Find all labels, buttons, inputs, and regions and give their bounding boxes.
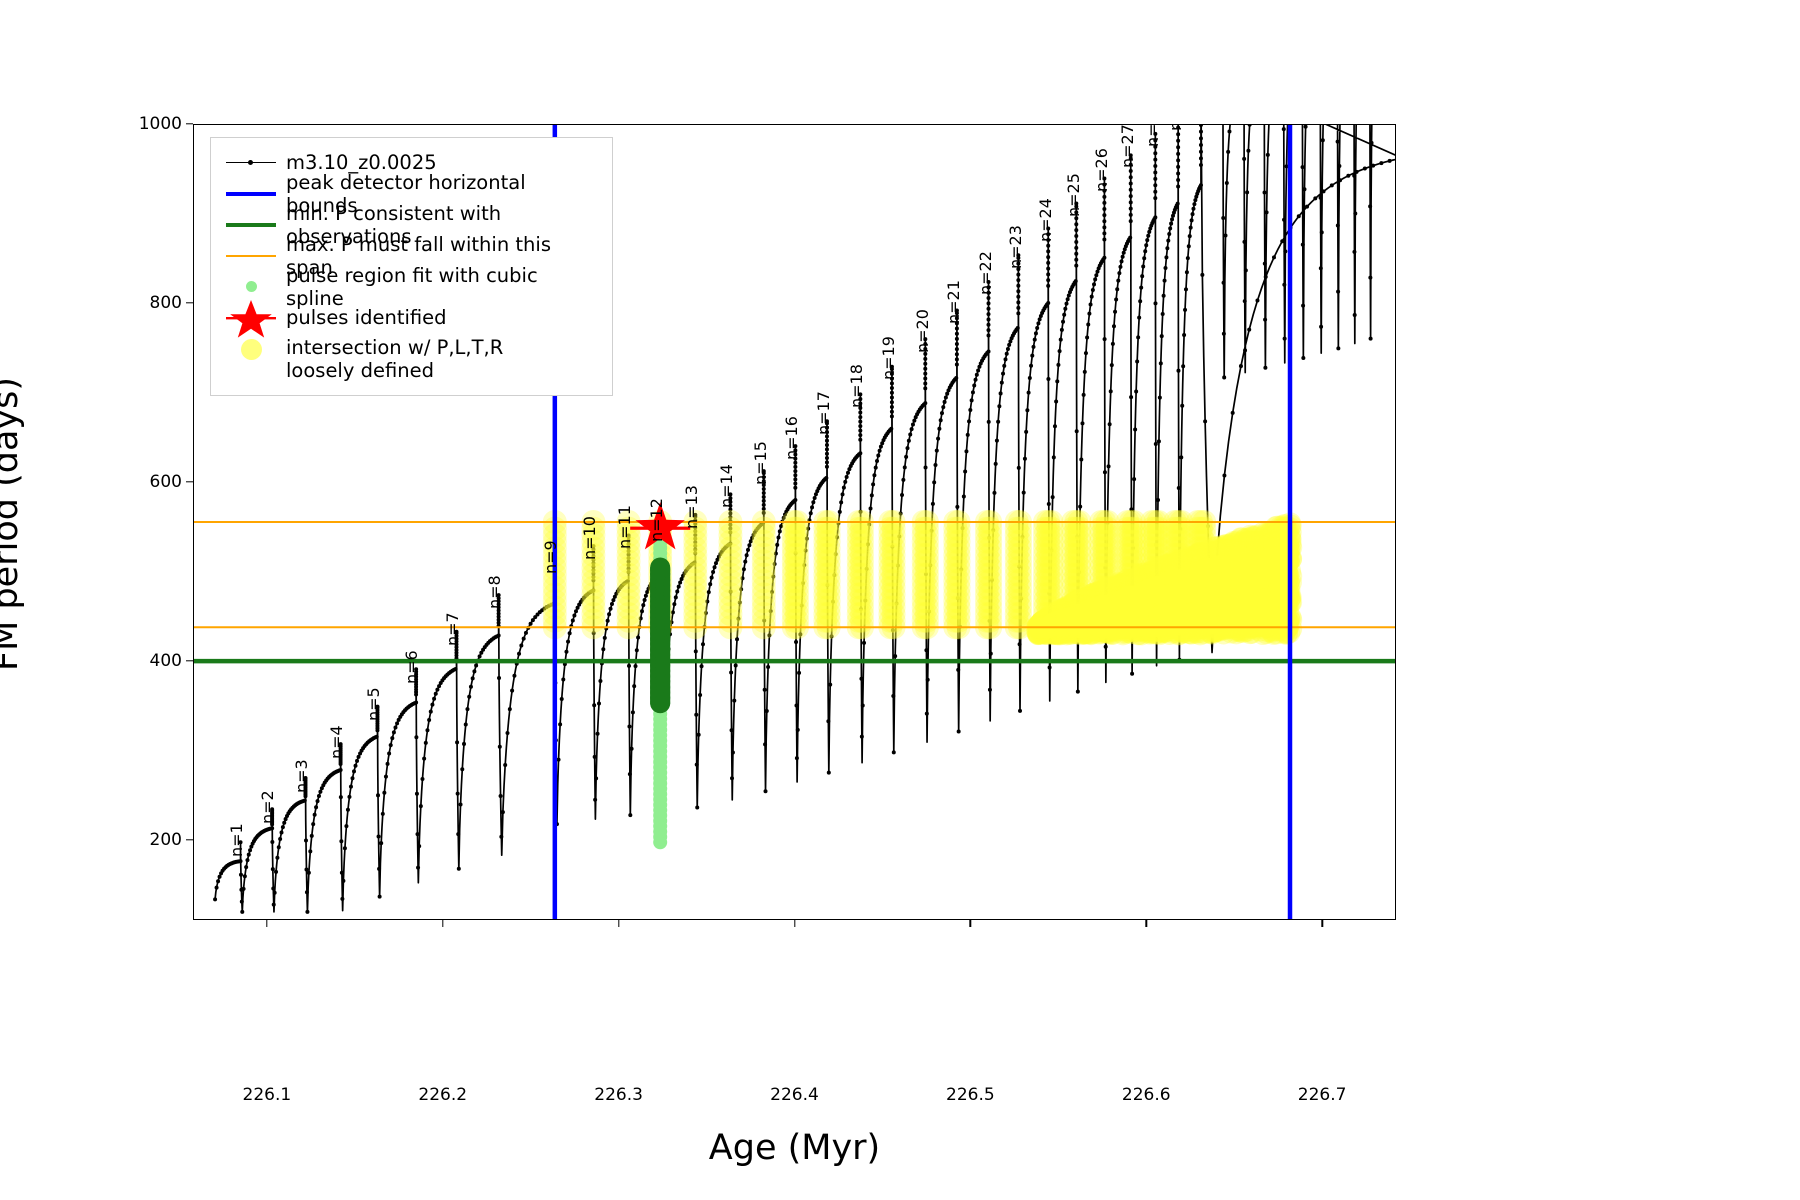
x-tick-label: 226.5 bbox=[946, 1085, 995, 1105]
x-axis-label: Age (Myr) bbox=[193, 1128, 1396, 1168]
pulse-label-n2: n=2 bbox=[258, 790, 277, 824]
pulse-label-n14: n=14 bbox=[717, 464, 736, 508]
x-tick-mark bbox=[970, 920, 971, 927]
y-tick-mark bbox=[186, 660, 193, 661]
pulse-label-n6: n=6 bbox=[402, 650, 421, 684]
x-tick-label: 226.2 bbox=[418, 1085, 467, 1105]
pulse-label-n11: n=11 bbox=[615, 506, 634, 550]
pulse-label-n23: n=23 bbox=[1006, 225, 1025, 269]
y-tick-label: 1000 bbox=[139, 114, 182, 134]
y-tick-label: 200 bbox=[150, 830, 182, 850]
pulse-label-n22: n=22 bbox=[976, 252, 995, 296]
pulse-label-n28: n=28 bbox=[1143, 125, 1162, 147]
legend-label-pulses-identified: pulses identified bbox=[280, 306, 447, 329]
pulse-label-n13: n=13 bbox=[682, 485, 701, 529]
pulse-label-n12: n=12 bbox=[647, 498, 666, 542]
pulse-label-n9: n=9 bbox=[541, 540, 560, 574]
x-tick-label: 226.3 bbox=[594, 1085, 643, 1105]
legend-label-intersection-line-1: loosely defined bbox=[286, 359, 503, 382]
x-tick-label: 226.4 bbox=[770, 1085, 819, 1105]
legend-label-intersection: intersection w/ P,L,T,Rloosely defined bbox=[280, 336, 503, 382]
legend: m3.10_z0.0025 peak detector horizontal b… bbox=[210, 137, 613, 396]
x-tick-mark bbox=[794, 920, 795, 927]
cubic-spline-pulse-region bbox=[650, 530, 670, 849]
pulse-label-n1: n=1 bbox=[227, 823, 246, 857]
pulse-label-n5: n=5 bbox=[364, 687, 383, 721]
pulse-label-n29: n=29 bbox=[1166, 125, 1185, 131]
pulse-label-n20: n=20 bbox=[913, 309, 932, 353]
y-tick-mark bbox=[186, 123, 193, 124]
dot-yellow-icon bbox=[222, 336, 280, 362]
y-tick-mark bbox=[186, 302, 193, 303]
pulse-label-n8: n=8 bbox=[485, 576, 504, 610]
x-tick-mark bbox=[442, 920, 443, 927]
line-orange-icon bbox=[222, 243, 280, 269]
pulse-label-n15: n=15 bbox=[751, 441, 770, 485]
plot-area: n=1n=2n=3n=4n=5n=6n=7n=8n=9n=10n=11n=12n… bbox=[193, 124, 1396, 920]
legend-item-intersection: intersection w/ P,L,T,Rloosely defined bbox=[222, 333, 599, 386]
x-tick-mark bbox=[618, 920, 619, 927]
line-black-marker-icon bbox=[222, 150, 280, 176]
y-tick-label: 400 bbox=[150, 651, 182, 671]
pulse-label-n25: n=25 bbox=[1064, 173, 1083, 217]
pulse-label-n7: n=7 bbox=[443, 612, 462, 646]
line-green-icon bbox=[222, 212, 280, 238]
y-axis-label: FM period (days) bbox=[0, 377, 26, 671]
pulse-label-n10: n=10 bbox=[580, 516, 599, 560]
x-tick-mark bbox=[266, 920, 267, 927]
y-tick-label: 800 bbox=[150, 293, 182, 313]
pulse-label-n26: n=26 bbox=[1092, 148, 1111, 192]
x-tick-label: 226.1 bbox=[243, 1085, 292, 1105]
pulse-label-n16: n=16 bbox=[782, 416, 801, 460]
figure: FM period (days) Age (Myr) n=1n=2n=3n=4n… bbox=[0, 0, 1800, 1200]
star-red-icon bbox=[222, 305, 280, 331]
y-tick-label: 600 bbox=[150, 472, 182, 492]
legend-label-spline: pulse region fit with cubic spline bbox=[280, 264, 599, 310]
pulse-label-n24: n=24 bbox=[1036, 198, 1055, 242]
pulse-label-n3: n=3 bbox=[292, 759, 311, 793]
pulse-label-n18: n=18 bbox=[847, 364, 866, 408]
x-tick-mark bbox=[1321, 920, 1322, 927]
x-tick-label: 226.6 bbox=[1122, 1085, 1171, 1105]
legend-item-spline: pulse region fit with cubic spline bbox=[222, 271, 599, 302]
y-tick-mark bbox=[186, 839, 193, 840]
pulse-label-n27: n=27 bbox=[1118, 125, 1137, 168]
pulse-label-n19: n=19 bbox=[879, 336, 898, 380]
line-blue-icon bbox=[222, 181, 280, 207]
pulse-label-n21: n=21 bbox=[944, 280, 963, 324]
legend-label-intersection-line-0: intersection w/ P,L,T,R bbox=[286, 336, 503, 359]
x-tick-label: 226.7 bbox=[1298, 1085, 1347, 1105]
y-tick-mark bbox=[186, 481, 193, 482]
pulse-label-n4: n=4 bbox=[327, 725, 346, 759]
dot-lightgreen-icon bbox=[222, 274, 280, 300]
pulse-label-n17: n=17 bbox=[814, 391, 833, 435]
x-tick-mark bbox=[1146, 920, 1147, 927]
